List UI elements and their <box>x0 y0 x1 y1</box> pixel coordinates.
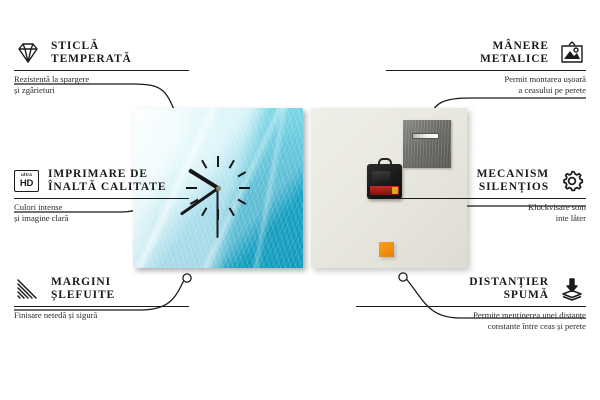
callout-description-line2: inte låter <box>386 213 586 224</box>
ultra-hd-icon-main-text: HD <box>20 179 33 189</box>
polished-edge-icon <box>14 277 42 301</box>
callout-silent-mechanism: MECANISM SILENȚIOS Klockvisare som inte … <box>386 168 586 223</box>
callout-divider <box>14 198 189 199</box>
diamond-icon <box>14 41 42 65</box>
callout-header: STICLĂ TEMPERATĂ <box>14 40 189 66</box>
callout-header: MECANISM SILENȚIOS <box>386 168 586 194</box>
gear-icon <box>558 169 586 193</box>
callout-metal-handles: MÂNERE METALICE Permit montarea ușoară a… <box>386 40 586 95</box>
metal-hanger-plate <box>403 120 451 168</box>
callout-divider <box>386 70 586 71</box>
callout-high-quality-print: ultra HD IMPRIMARE DE ÎNALTĂ CALITATE Cu… <box>14 168 189 223</box>
mechanism-hanging-loop <box>378 158 392 167</box>
callout-divider <box>386 198 586 199</box>
callout-description-line2: constante între ceas și perete <box>356 321 586 332</box>
callout-tempered-glass: STICLĂ TEMPERATĂ Rezistentă la spargere … <box>14 40 189 95</box>
callout-title: STICLĂ TEMPERATĂ <box>51 40 132 66</box>
callout-foam-spacer: DISTANȚIER SPUMĂ Permite menținerea unei… <box>356 276 586 331</box>
callout-description-line1: Permit montarea ușoară <box>386 74 586 85</box>
callout-divider <box>356 306 586 307</box>
callout-title: IMPRIMARE DE ÎNALTĂ CALITATE <box>48 168 166 194</box>
picture-hanger-icon <box>558 41 586 65</box>
callout-title: DISTANȚIER SPUMĂ <box>469 276 549 302</box>
callout-header: DISTANȚIER SPUMĂ <box>356 276 586 302</box>
callout-description-line1: Culori intense <box>14 202 189 213</box>
callout-header: MÂNERE METALICE <box>386 40 586 66</box>
callout-divider <box>14 70 189 71</box>
callout-divider <box>14 306 189 307</box>
callout-title: MÂNERE METALICE <box>480 40 549 66</box>
callout-description-line1: Rezistentă la spargere <box>14 74 189 85</box>
spacer-layers-icon <box>558 277 586 301</box>
callout-header: ultra HD IMPRIMARE DE ÎNALTĂ CALITATE <box>14 168 189 194</box>
callout-polished-edges: MARGINI ȘLEFUITE Finisare netedă și sigu… <box>14 276 189 321</box>
callout-description-line1: Permite menținerea unei distanțe <box>356 310 586 321</box>
callout-title: MARGINI ȘLEFUITE <box>51 276 115 302</box>
foam-spacer-pad <box>379 242 394 257</box>
callout-description-line2: și imagine clară <box>14 213 189 224</box>
callout-description-line1: Klockvisare som <box>386 202 586 213</box>
hanger-slot <box>412 133 439 139</box>
callout-description-line1: Finisare netedă și sigură <box>14 310 189 321</box>
callout-header: MARGINI ȘLEFUITE <box>14 276 189 302</box>
callout-description-line2: și zgârieturi <box>14 85 189 96</box>
infographic-canvas: STICLĂ TEMPERATĂ Rezistentă la spargere … <box>0 0 600 400</box>
callout-description-line2: a ceasului pe perete <box>386 85 586 96</box>
ultra-hd-icon: ultra HD <box>14 170 39 192</box>
clock-center-cap <box>216 186 221 191</box>
callout-title: MECANISM SILENȚIOS <box>477 168 549 194</box>
